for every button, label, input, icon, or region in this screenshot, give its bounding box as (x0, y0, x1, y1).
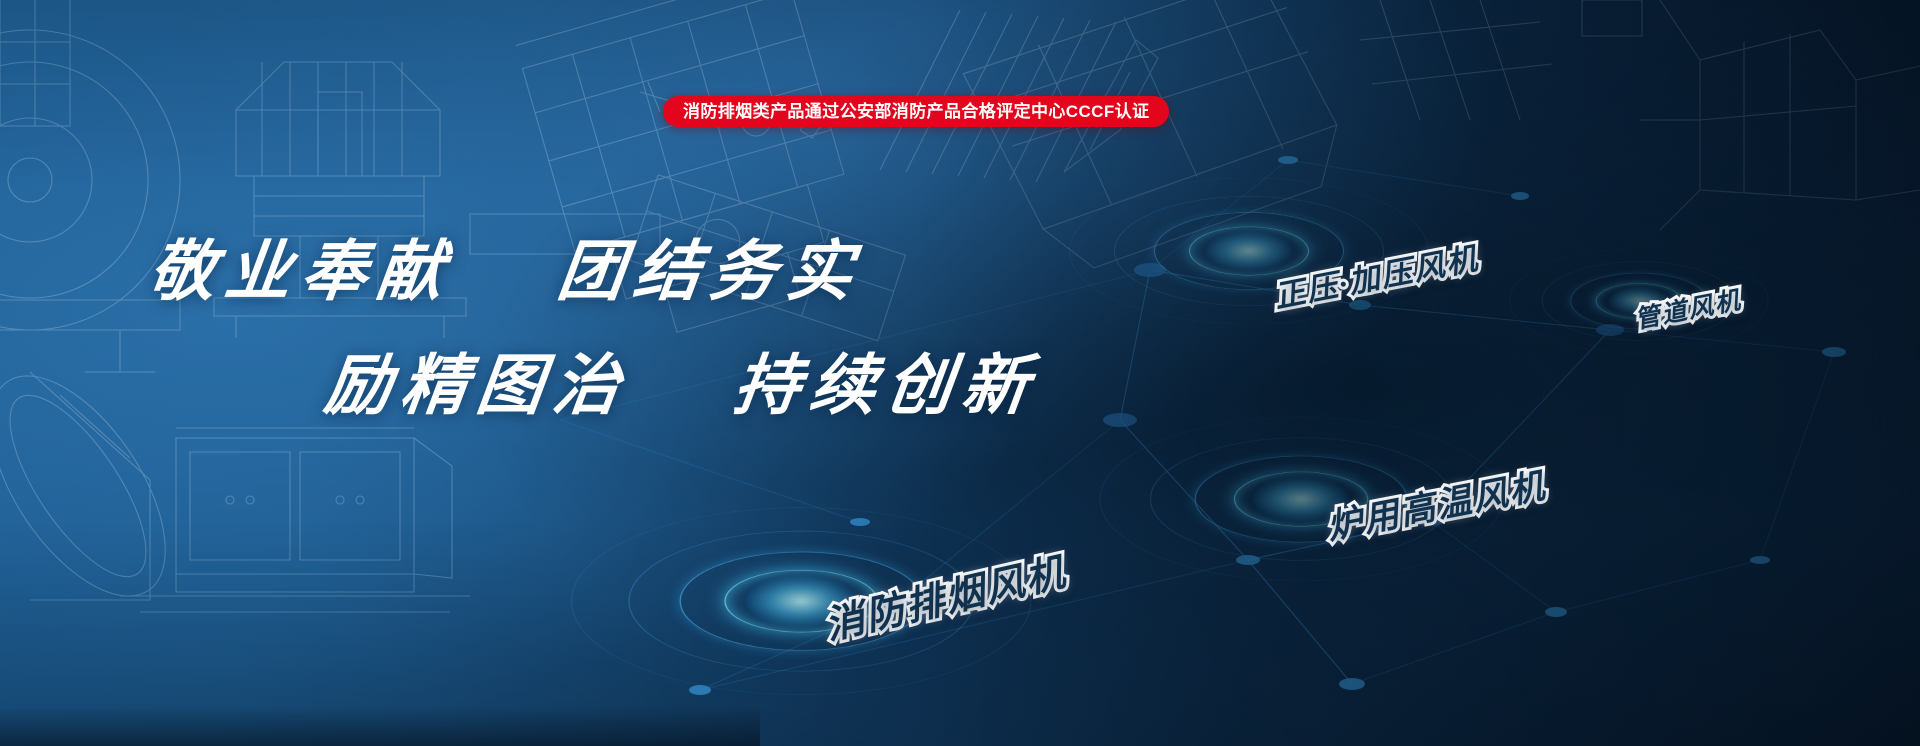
product-label-positive-pressure-fan[interactable]: 正压·加压风机 (1270, 233, 1483, 317)
radar-disc-zhengya (1248, 250, 1249, 251)
product-label-fire-smoke-exhaust-fan[interactable]: 消防排烟风机 (819, 541, 1071, 651)
product-label-duct-fan[interactable]: 管道风机 (1632, 280, 1745, 336)
slogan-block: 敬业奉献 团结务实 励精图治 持续创新 (150, 218, 910, 428)
slogan-line-1-part-2: 团结务实 (554, 236, 867, 309)
radar-disc-xiaofang (800, 600, 801, 601)
certification-banner: 消防排烟类产品通过公安部消防产品合格评定中心CCCF认证 (663, 96, 1169, 127)
product-label-furnace-high-temperature-fan[interactable]: 炉用高温风机 (1322, 457, 1550, 549)
disc-ring-4 (1069, 177, 1429, 323)
slogan-line-1-part-1: 敬业奉献 (145, 236, 458, 309)
slogan-line-2-part-1: 励精图治 (321, 350, 634, 423)
hero-banner: 消防排烟类产品通过公安部消防产品合格评定中心CCCF认证 敬业奉献 团结务实 励… (0, 0, 1920, 746)
bottom-left-shadow (0, 706, 760, 746)
disc-core-glow (1206, 231, 1292, 271)
slogan-line-2-part-2: 持续创新 (730, 350, 1043, 423)
slogan-line-1: 敬业奉献 团结务实 (144, 218, 916, 314)
slogan-line-2: 励精图治 持续创新 (320, 332, 916, 428)
radar-disc-luyong (1300, 498, 1301, 499)
